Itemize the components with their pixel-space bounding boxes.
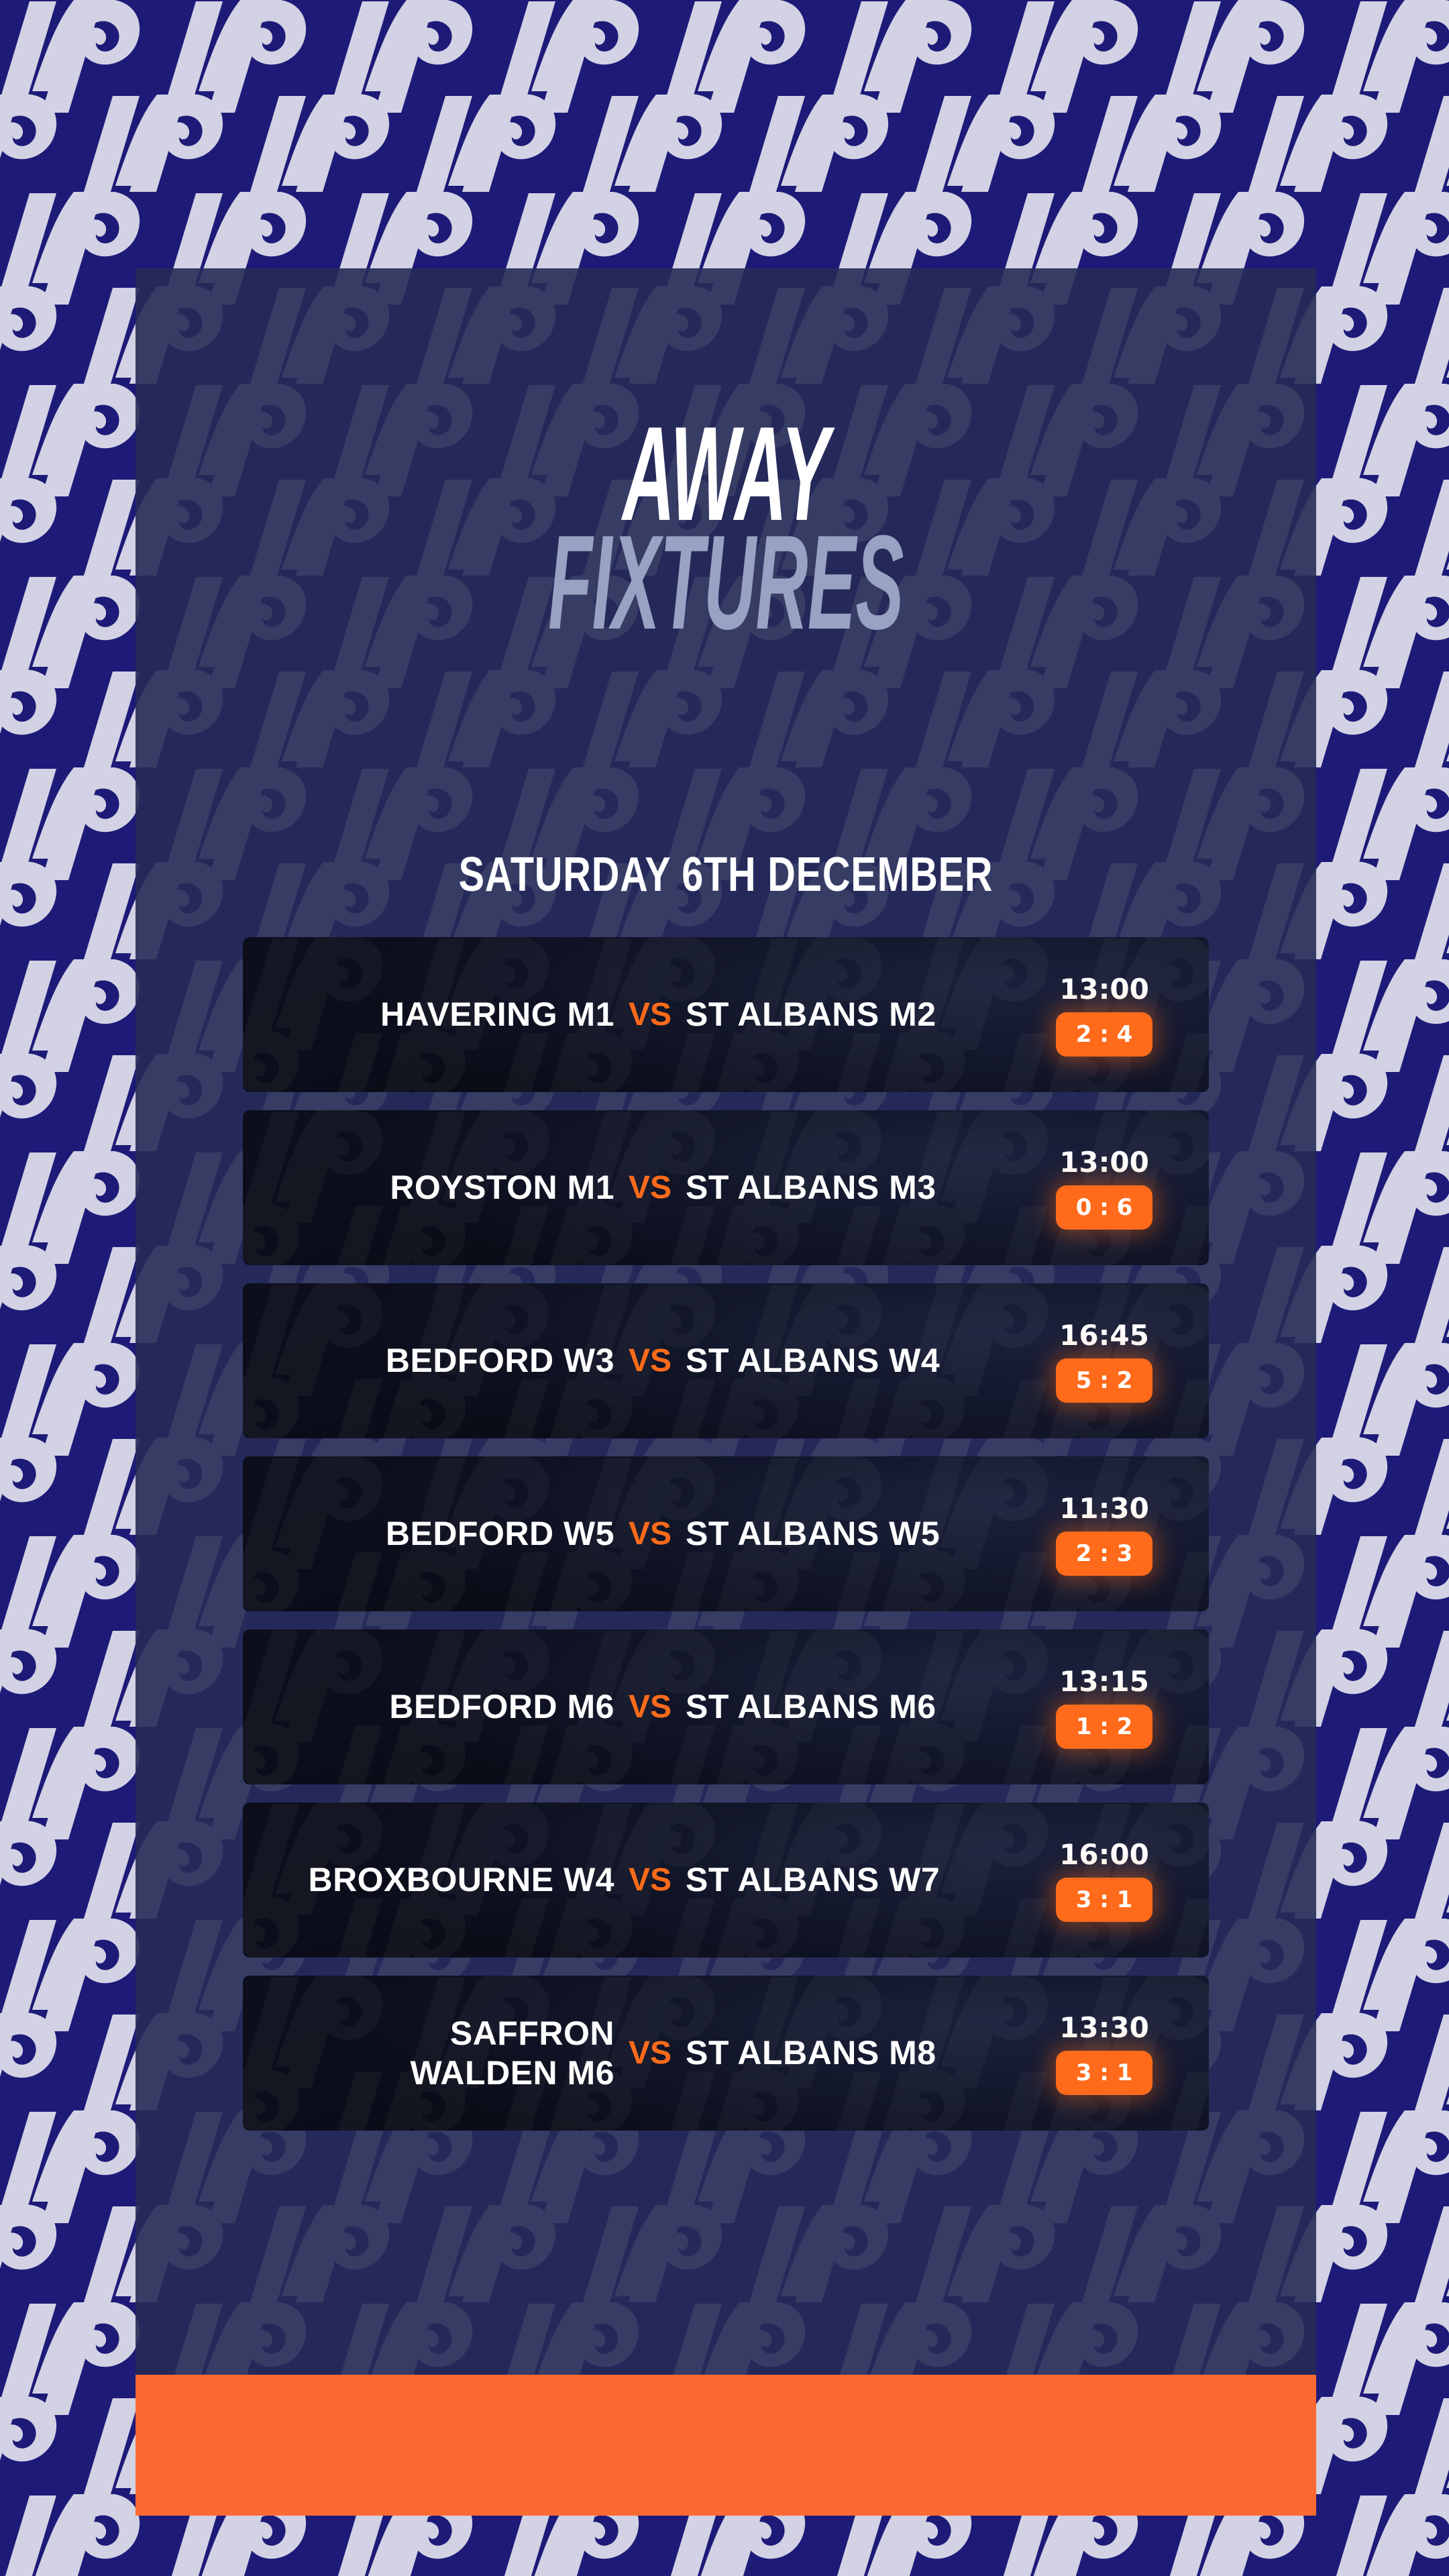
away-team-name: ST ALBANS W5 [686, 1514, 1024, 1554]
fixture-row[interactable]: HAVERING M1 VS ST ALBANS M2 13:00 2 : 4 [243, 937, 1209, 1092]
fixture-row[interactable]: BEDFORD W3 VS ST ALBANS W4 16:45 5 : 2 [243, 1283, 1209, 1438]
score-badge: 2 : 3 [1056, 1532, 1153, 1576]
date-heading: SATURDAY 6TH DECEMBER [459, 847, 994, 902]
home-team-name: BEDFORD M6 [298, 1687, 614, 1727]
fixture-meta: 13:30 3 : 1 [1024, 2011, 1185, 2095]
fixture-meta: 13:00 2 : 4 [1024, 973, 1185, 1057]
away-team-name: ST ALBANS M3 [686, 1168, 1024, 1207]
card-spacer [136, 2131, 1316, 2375]
away-team-name: ST ALBANS W7 [686, 1860, 1024, 1900]
score-badge: 0 : 6 [1056, 1185, 1153, 1230]
home-team-name: HAVERING M1 [298, 995, 614, 1034]
footer-bar [136, 2375, 1316, 2516]
fixture-meta: 13:15 1 : 2 [1024, 1665, 1185, 1749]
home-team-name: SAFFRON WALDEN M6 [298, 2014, 614, 2093]
score-badge: 2 : 4 [1056, 1012, 1153, 1057]
fixture-row[interactable]: ROYSTON M1 VS ST ALBANS M3 13:00 0 : 6 [243, 1110, 1209, 1265]
away-team-name: ST ALBANS M6 [686, 1687, 1024, 1727]
fixture-meta: 13:00 0 : 6 [1024, 1146, 1185, 1230]
fixture-meta: 11:30 2 : 3 [1024, 1492, 1185, 1576]
away-team-name: ST ALBANS M8 [686, 2033, 1024, 2073]
date-heading-row: SATURDAY 6TH DECEMBER [136, 847, 1316, 902]
match-time: 16:00 [1059, 1838, 1149, 1871]
vs-label: VS [614, 2035, 686, 2072]
page-title: AWAY FIXTURES [136, 413, 1316, 645]
title-fixtures: FIXTURES [407, 521, 1044, 645]
fixtures-list: HAVERING M1 VS ST ALBANS M2 13:00 2 : 4 … [136, 937, 1316, 2131]
vs-label: VS [614, 996, 686, 1033]
home-team-name: BROXBOURNE W4 [298, 1860, 614, 1900]
away-team-name: ST ALBANS M2 [686, 995, 1024, 1034]
fixture-row[interactable]: SAFFRON WALDEN M6 VS ST ALBANS M8 13:30 … [243, 1976, 1209, 2131]
score-badge: 1 : 2 [1056, 1705, 1153, 1749]
home-team-name: BEDFORD W3 [298, 1341, 614, 1381]
match-time: 13:00 [1059, 973, 1149, 1006]
fixture-row[interactable]: BEDFORD M6 VS ST ALBANS M6 13:15 1 : 2 [243, 1629, 1209, 1784]
fixture-meta: 16:00 3 : 1 [1024, 1838, 1185, 1922]
fixture-row[interactable]: BROXBOURNE W4 VS ST ALBANS W7 16:00 3 : … [243, 1803, 1209, 1957]
fixture-row[interactable]: BEDFORD W5 VS ST ALBANS W5 11:30 2 : 3 [243, 1456, 1209, 1611]
score-badge: 3 : 1 [1056, 2051, 1153, 2095]
match-time: 13:15 [1059, 1665, 1149, 1698]
fixture-meta: 16:45 5 : 2 [1024, 1319, 1185, 1403]
away-team-name: ST ALBANS W4 [686, 1341, 1024, 1381]
score-badge: 3 : 1 [1056, 1878, 1153, 1922]
vs-label: VS [614, 1169, 686, 1206]
home-team-name: BEDFORD W5 [298, 1514, 614, 1554]
vs-label: VS [614, 1515, 686, 1552]
vs-label: VS [614, 1342, 686, 1379]
vs-label: VS [614, 1862, 686, 1898]
score-badge: 5 : 2 [1056, 1358, 1153, 1403]
vs-label: VS [614, 1688, 686, 1725]
match-time: 13:30 [1059, 2011, 1149, 2044]
match-time: 13:00 [1059, 1146, 1149, 1179]
match-time: 11:30 [1059, 1492, 1149, 1525]
fixtures-card: AWAY FIXTURES SATURDAY 6TH DECEMBER HAVE… [136, 268, 1316, 2516]
match-time: 16:45 [1059, 1319, 1149, 1352]
home-team-name: ROYSTON M1 [298, 1168, 614, 1207]
